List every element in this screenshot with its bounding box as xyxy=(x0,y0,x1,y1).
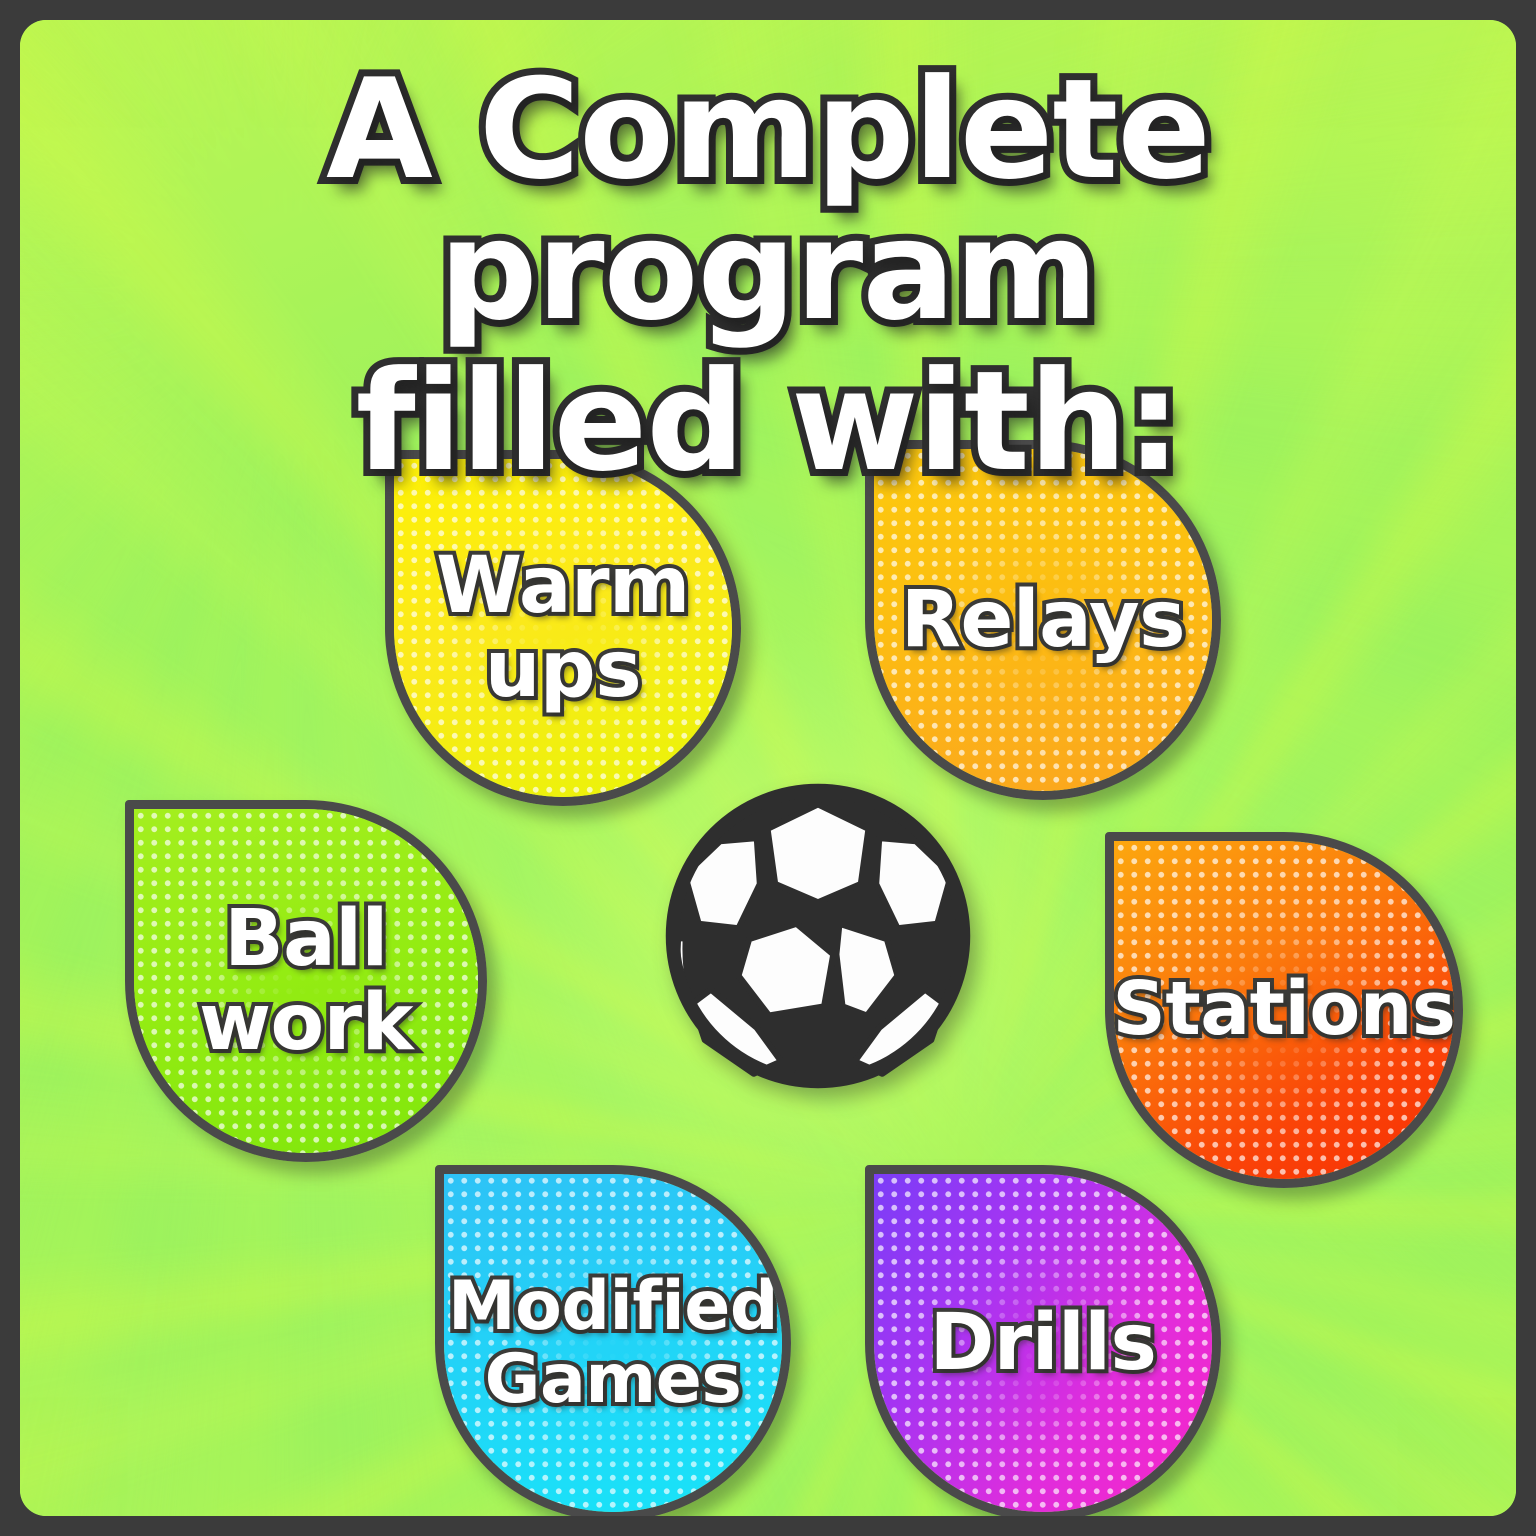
poster-canvas: A Complete program filled with: Warm ups… xyxy=(20,20,1516,1516)
badge-label: Modified Games xyxy=(438,1270,788,1417)
badge-ball-work[interactable]: Ball work xyxy=(125,800,487,1162)
badge-modified-games[interactable]: Modified Games xyxy=(435,1165,791,1516)
badge-label: Drills xyxy=(920,1301,1167,1385)
title-line-1: A Complete program xyxy=(20,60,1516,342)
badge-warm-ups[interactable]: Warm ups xyxy=(385,450,741,806)
soccer-ball-icon xyxy=(665,783,971,1089)
badge-label: Stations xyxy=(1105,970,1463,1050)
poster-root: A Complete program filled with: Warm ups… xyxy=(0,0,1536,1536)
page-title: A Complete program filled with: xyxy=(20,60,1516,492)
badge-label: Warm ups xyxy=(426,544,700,712)
badge-label: Ball work xyxy=(189,897,423,1065)
badge-stations[interactable]: Stations xyxy=(1105,832,1463,1188)
badge-drills[interactable]: Drills xyxy=(865,1165,1221,1516)
badge-label: Relays xyxy=(891,578,1195,662)
title-line-2: filled with: xyxy=(20,352,1516,493)
